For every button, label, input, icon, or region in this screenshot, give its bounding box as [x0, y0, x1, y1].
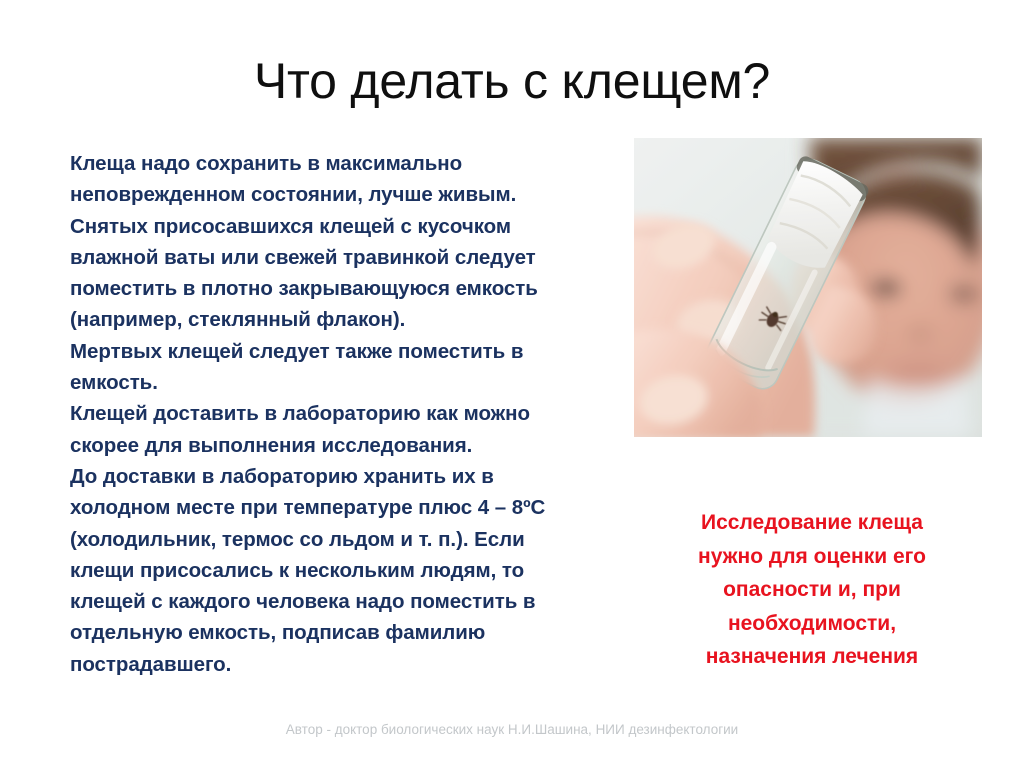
body-paragraph: Клеща надо сохранить в максимально непов…: [70, 148, 630, 680]
body-line: поместить в плотно закрывающуюся емкость: [70, 273, 630, 304]
red-note-line: Исследование клеща: [626, 506, 998, 540]
body-line: Мертвых клещей следует также поместить в: [70, 336, 630, 367]
body-line: (холодильник, термос со льдом и т. п.). …: [70, 524, 630, 555]
body-line: холодном месте при температуре плюс 4 – …: [70, 492, 630, 523]
body-line: Клеща надо сохранить в максимально: [70, 148, 630, 179]
body-line: влажной ваты или свежей травинкой следуе…: [70, 242, 630, 273]
body-line: скорее для выполнения исследования.: [70, 430, 630, 461]
slide-canvas: Что делать с клещем? Клеща надо сохранит…: [0, 0, 1024, 768]
tick-in-vial-photo: [634, 138, 982, 437]
page-title: Что делать с клещем?: [0, 52, 1024, 110]
red-note-line: опасности и, при: [626, 573, 998, 607]
body-line: Клещей доставить в лабораторию как можно: [70, 398, 630, 429]
body-line: Снятых присосавшихся клещей с кусочком: [70, 211, 630, 242]
body-line: (например, стеклянный флакон).: [70, 304, 630, 335]
body-line: клещей с каждого человека надо поместить…: [70, 586, 630, 617]
body-text-block: Клеща надо сохранить в максимально непов…: [70, 148, 630, 680]
red-emphasis-note: Исследование клеща нужно для оценки его …: [626, 506, 998, 674]
red-note-line: необходимости,: [626, 607, 998, 641]
body-line: пострадавшего.: [70, 649, 630, 680]
body-line: отдельную емкость, подписав фамилию: [70, 617, 630, 648]
body-line: клещи присосались к нескольким людям, то: [70, 555, 630, 586]
red-note-line: назначения лечения: [626, 640, 998, 674]
body-line: емкость.: [70, 367, 630, 398]
red-note-line: нужно для оценки его: [626, 540, 998, 574]
tick-in-vial-illustration: [634, 138, 982, 437]
author-attribution: Автор - доктор биологических наук Н.И.Ша…: [0, 721, 1024, 739]
body-line: До доставки в лабораторию хранить их в: [70, 461, 630, 492]
body-line: неповрежденном состоянии, лучше живым.: [70, 179, 630, 210]
